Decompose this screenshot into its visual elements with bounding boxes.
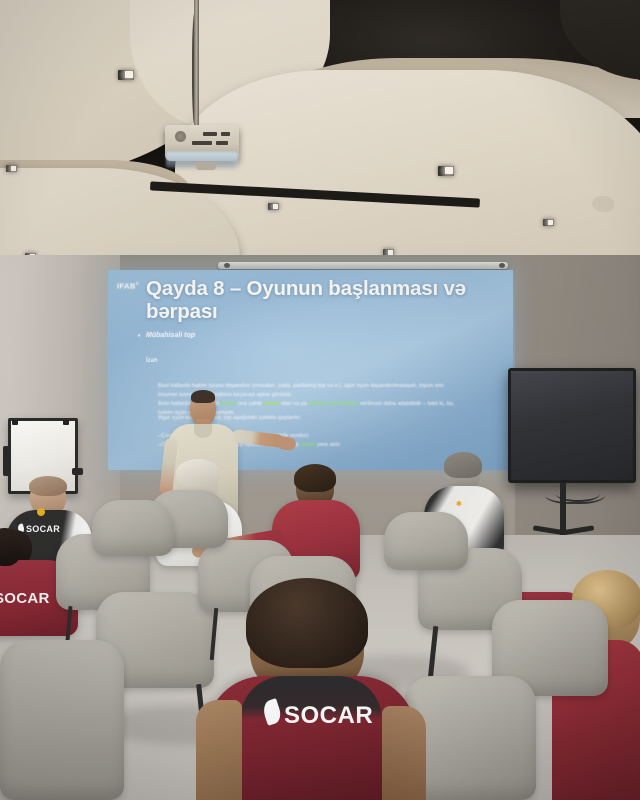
attendee-left-hair: [29, 476, 67, 496]
attendee-white-hair: [176, 459, 220, 487]
ceiling: [0, 0, 640, 262]
ceiling-light-8: [543, 219, 554, 226]
para1-line3c: ona sahib: [236, 401, 263, 407]
chair-back-10: [0, 640, 124, 800]
screen-housing-cap-right: [499, 263, 505, 268]
presenter-hair: [191, 390, 215, 403]
projector-vent-2: [221, 132, 230, 136]
projector-foot: [196, 162, 216, 170]
slide-section-label: İzah: [146, 358, 158, 364]
projector-lens: [175, 131, 186, 142]
ceiling-light-1: [118, 70, 134, 80]
presenter-collar: [194, 424, 212, 438]
para1-line3e: olan və ya: [280, 401, 309, 407]
whiteboard-arm-left: [3, 446, 10, 476]
socar-wordmark-1: SOCAR: [26, 524, 60, 534]
socar-wordmark-2: SOCAR: [0, 590, 50, 607]
slide-list-item-2c: yerə atılır: [315, 442, 340, 448]
projector-vent-4: [216, 141, 228, 145]
chair-empty-9: [384, 512, 468, 570]
para1-hl-topun: topun: [221, 401, 237, 407]
slide-title: Qayda 8 – Oyunun başlanması və bərpası: [146, 277, 498, 323]
socar-wordmark-foreground: SOCAR: [284, 702, 373, 730]
para1-line2: toxunan komandanın rəqibinə keçəcəyi aşk…: [158, 392, 292, 398]
para1-hl-olacaq: olacaq komandaya: [308, 401, 358, 407]
whiteboard-clip-right: [63, 420, 69, 425]
presentation-room-photo: IFAB® Qayda 8 – Oyunun başlanması və bər…: [0, 0, 640, 800]
para1-hl-olmali: olmalı: [263, 401, 279, 407]
team-badge-1: [37, 508, 45, 516]
ceiling-light-5: [438, 166, 454, 176]
attendee-kappa-hair: [444, 452, 482, 478]
ceiling-panel-right: [175, 70, 640, 262]
display-stand-post: [560, 483, 566, 535]
bullet-marker: •: [138, 333, 140, 340]
slide-list-hl-yerde: yerdə: [300, 442, 315, 448]
whiteboard-arm-right: [72, 468, 83, 475]
chair-back-5: [92, 500, 174, 556]
slide-bullet-item: • Mübahisəli top: [146, 332, 195, 339]
display-panel: [511, 371, 633, 480]
ifab-logo: IFAB®: [117, 281, 139, 291]
attendee-redsleeve-hair: [294, 464, 336, 492]
projector-vent-3: [192, 141, 212, 145]
attendee-foreground-left-shoulder: [196, 700, 242, 800]
bullet-text: Mübahisəli top: [146, 332, 195, 339]
whiteboard-clip-left: [12, 420, 18, 425]
projection-screen-housing: [218, 262, 508, 269]
chair-empty-10: [0, 640, 124, 800]
para1-line3g: verilməsi daha ədalətlidir – təbii ki, b…: [358, 401, 454, 407]
attendee-foreground-right-shoulder: [382, 706, 426, 800]
chair-back-9: [384, 512, 468, 570]
para1-line1: Bəzi hallarda hakim oyunu dayandırır (mə…: [158, 383, 444, 389]
ceiling-light-2: [6, 165, 17, 172]
attendee-foreground-hair: [246, 578, 368, 668]
projector-vent-1: [203, 132, 217, 136]
kappa-logo: ❄: [456, 500, 462, 508]
ceiling-fixture-blob: [592, 196, 614, 212]
chair-empty-5: [92, 500, 174, 556]
projector-mount-pole: [194, 0, 199, 128]
screen-housing-cap-left: [224, 263, 230, 268]
ceiling-light-6: [268, 203, 279, 210]
flat-screen-display: [508, 368, 636, 483]
